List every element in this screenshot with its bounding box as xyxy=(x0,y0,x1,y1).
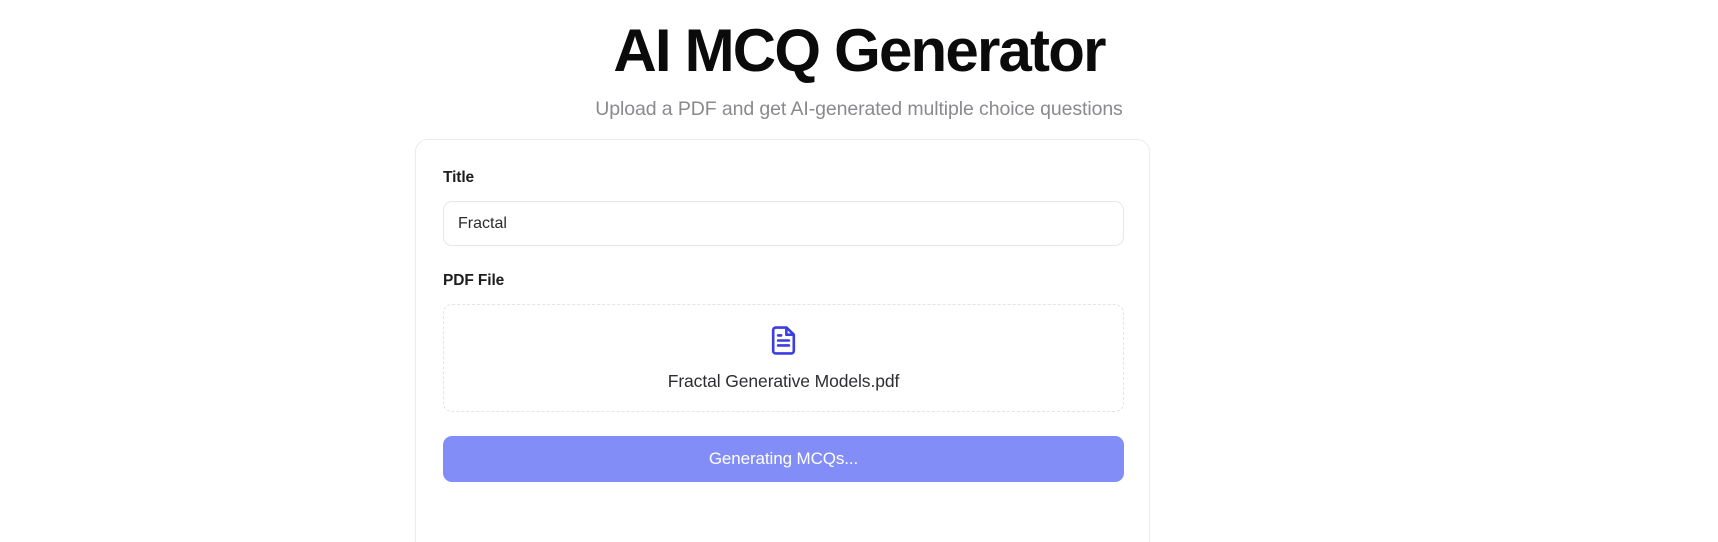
pdf-dropzone[interactable]: Fractal Generative Models.pdf xyxy=(443,304,1124,412)
title-field-group: Title xyxy=(443,168,1122,246)
pdf-field-group: PDF File Fractal Generative Models.pdf xyxy=(443,271,1122,412)
selected-file-name: Fractal Generative Models.pdf xyxy=(668,370,900,393)
upload-form-card: Title PDF File Fractal Generative Models… xyxy=(415,139,1150,542)
title-input[interactable] xyxy=(443,201,1124,246)
page-title: AI MCQ Generator xyxy=(0,14,1718,88)
pdf-field-label: PDF File xyxy=(443,271,1122,291)
page-header: AI MCQ Generator Upload a PDF and get AI… xyxy=(0,0,1718,122)
generate-mcqs-button[interactable]: Generating MCQs... xyxy=(443,436,1124,482)
page-subtitle: Upload a PDF and get AI-generated multip… xyxy=(0,96,1718,122)
app-root: AI MCQ Generator Upload a PDF and get AI… xyxy=(0,0,1718,542)
document-icon xyxy=(767,324,800,357)
title-field-label: Title xyxy=(443,168,1122,188)
